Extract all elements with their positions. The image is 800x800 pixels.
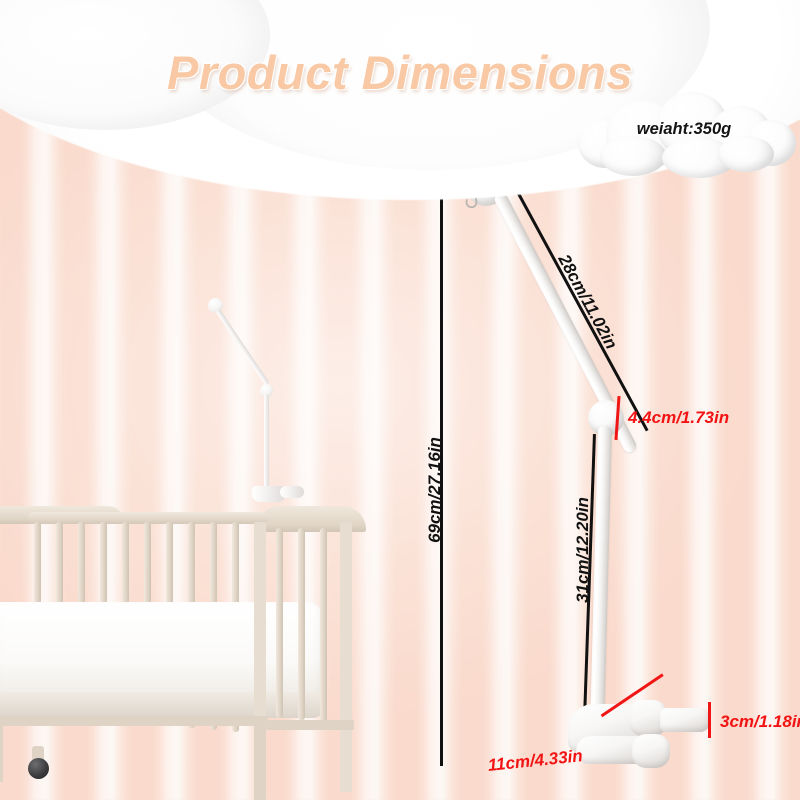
mini-mobile-arm — [200, 288, 320, 518]
total-height-dimension-label: 69cm/27.16in — [425, 437, 445, 543]
baby-crib-photo — [0, 470, 384, 800]
crib-end-post — [340, 522, 352, 792]
crib-leg — [254, 726, 266, 800]
crib-lower-rail — [0, 716, 268, 726]
product-dimensions-infographic: 69cm/27.16in 28cm/11.02in 4.4cm/1.73in 3… — [0, 0, 800, 800]
product-dimension-diagram: 69cm/27.16in 28cm/11.02in 4.4cm/1.73in 3… — [420, 150, 800, 790]
mini-mobile-upper-arm — [215, 309, 269, 386]
clamp-depth-dimension-label: 3cm/1.18in — [720, 712, 800, 732]
crib-mattress-side-panel — [0, 692, 322, 718]
weight-cloud-badge: weiaht:350g — [578, 92, 796, 178]
weight-badge-label: weiaht:350g — [578, 120, 790, 139]
cloud-puff — [600, 136, 666, 176]
joint-width-dimension-label: 4.4cm/1.73in — [628, 408, 729, 428]
clamp-depth-dimension-line — [708, 702, 711, 738]
crib-end-slat — [276, 528, 283, 718]
crib-lower-rail-end — [266, 720, 354, 730]
crib-end-slat — [320, 528, 327, 722]
base-width-dimension-label: 11cm/4.33in — [487, 746, 584, 776]
product-clamp-knob-lower — [632, 734, 670, 768]
lower-pole-dimension-label: 31cm/12.20in — [573, 497, 593, 603]
crib-end-slat — [298, 528, 305, 720]
cloud-puff — [718, 136, 774, 172]
mini-mobile-clamp-knob — [280, 486, 304, 498]
upper-arm-dimension-label: 28cm/11.02in — [554, 251, 621, 352]
mini-mobile-lower-pole — [264, 394, 269, 490]
crib-leg — [0, 722, 3, 782]
crib-caster-wheel — [28, 758, 49, 779]
product-clamp-screw-arm — [660, 708, 710, 732]
